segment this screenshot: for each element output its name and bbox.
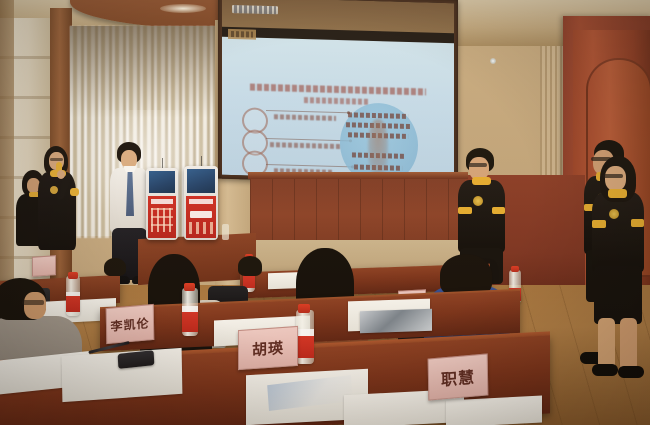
kiosk-right-headline [189,199,213,204]
name-card-1: 李凯伦 [106,304,155,344]
diagram-connector-1 [266,110,348,113]
team-member-woman-shoe-right [618,366,644,378]
team-member-man-left-body [458,180,505,252]
window-titlebar-text [234,5,276,14]
water-bottle-label [296,336,314,358]
team-member-woman-leg-left [598,318,615,370]
slide-corner-tag-text [231,31,253,38]
seated-person-far-2 [104,258,126,276]
conference-room-photo: 李凯伦 胡瑛 职慧 [0,0,650,425]
uniform-logo-badge [609,209,619,219]
projection-screen[interactable] [222,0,454,181]
slide-title-text [250,84,426,96]
water-bottle-label [182,312,198,332]
team-member-woman-cuff-left [592,220,606,228]
kiosk-left-product-grid [151,208,173,232]
diagram-label-1 [274,114,336,121]
seated-person-far-1 [238,256,262,276]
diagram-connector-3 [266,164,352,167]
team-member-man-left-glasses-icon [468,163,487,167]
team-member-woman-cuff-right [631,219,644,227]
team-member-woman-leg-right [620,318,637,370]
water-bottle-cap [184,283,195,291]
slide-subtitle-text [304,97,368,105]
water-bottle-cap [298,304,310,313]
kiosk-right-dispenser-slot[interactable] [190,211,212,218]
team-member-man-left-cuff-right [492,207,505,214]
team-member-man-left-gold-collar [472,177,491,185]
diagram-label-2 [270,142,342,149]
presenter-woman-glasses-icon [50,158,63,161]
uniform-logo-badge [473,196,483,206]
left-wall-edge [0,0,14,300]
team-member-man-left-cuff-left [458,207,472,214]
seated-man-grey-jacket-face [24,292,46,319]
water-bottle-label [66,296,80,312]
kiosk-left-headline [151,199,173,204]
kiosk-table-bottle [222,224,229,240]
water-bottle-cap [68,272,78,279]
water-bottle-cap [511,266,519,272]
presenter-woman-body [38,172,76,250]
team-member-woman-gold-collar [608,189,627,198]
laser-pointer-dot [490,58,496,64]
team-member-woman-body [592,192,644,272]
slide-content-area [222,37,454,181]
paper-near-5 [446,395,542,425]
name-card-3: 职慧 [428,353,489,400]
kiosk-right-screen[interactable] [187,169,215,193]
team-member-woman-shorts [594,266,642,324]
presenter-woman-hand [57,170,65,179]
presenter-shadow-on-screen [368,119,388,176]
kiosk-left-screen[interactable] [149,171,175,193]
team-member-woman-shoe-left [592,364,618,376]
wainscot-cap-rail [248,172,468,179]
curtain-valance-shadow [70,26,220,118]
diagram-connector-2 [266,138,350,141]
team-member-woman-glasses-icon [603,174,623,178]
team-member-woman-face [605,166,626,191]
seated-man-glasses-icon [22,300,44,305]
ceiling-light [160,4,206,13]
name-card-left-far [32,255,56,277]
presenter-woman-gold-cuff [70,188,79,196]
name-card-2: 胡瑛 [238,326,298,370]
printed-photo [360,309,432,334]
kiosk-right-product-grid [189,222,213,234]
